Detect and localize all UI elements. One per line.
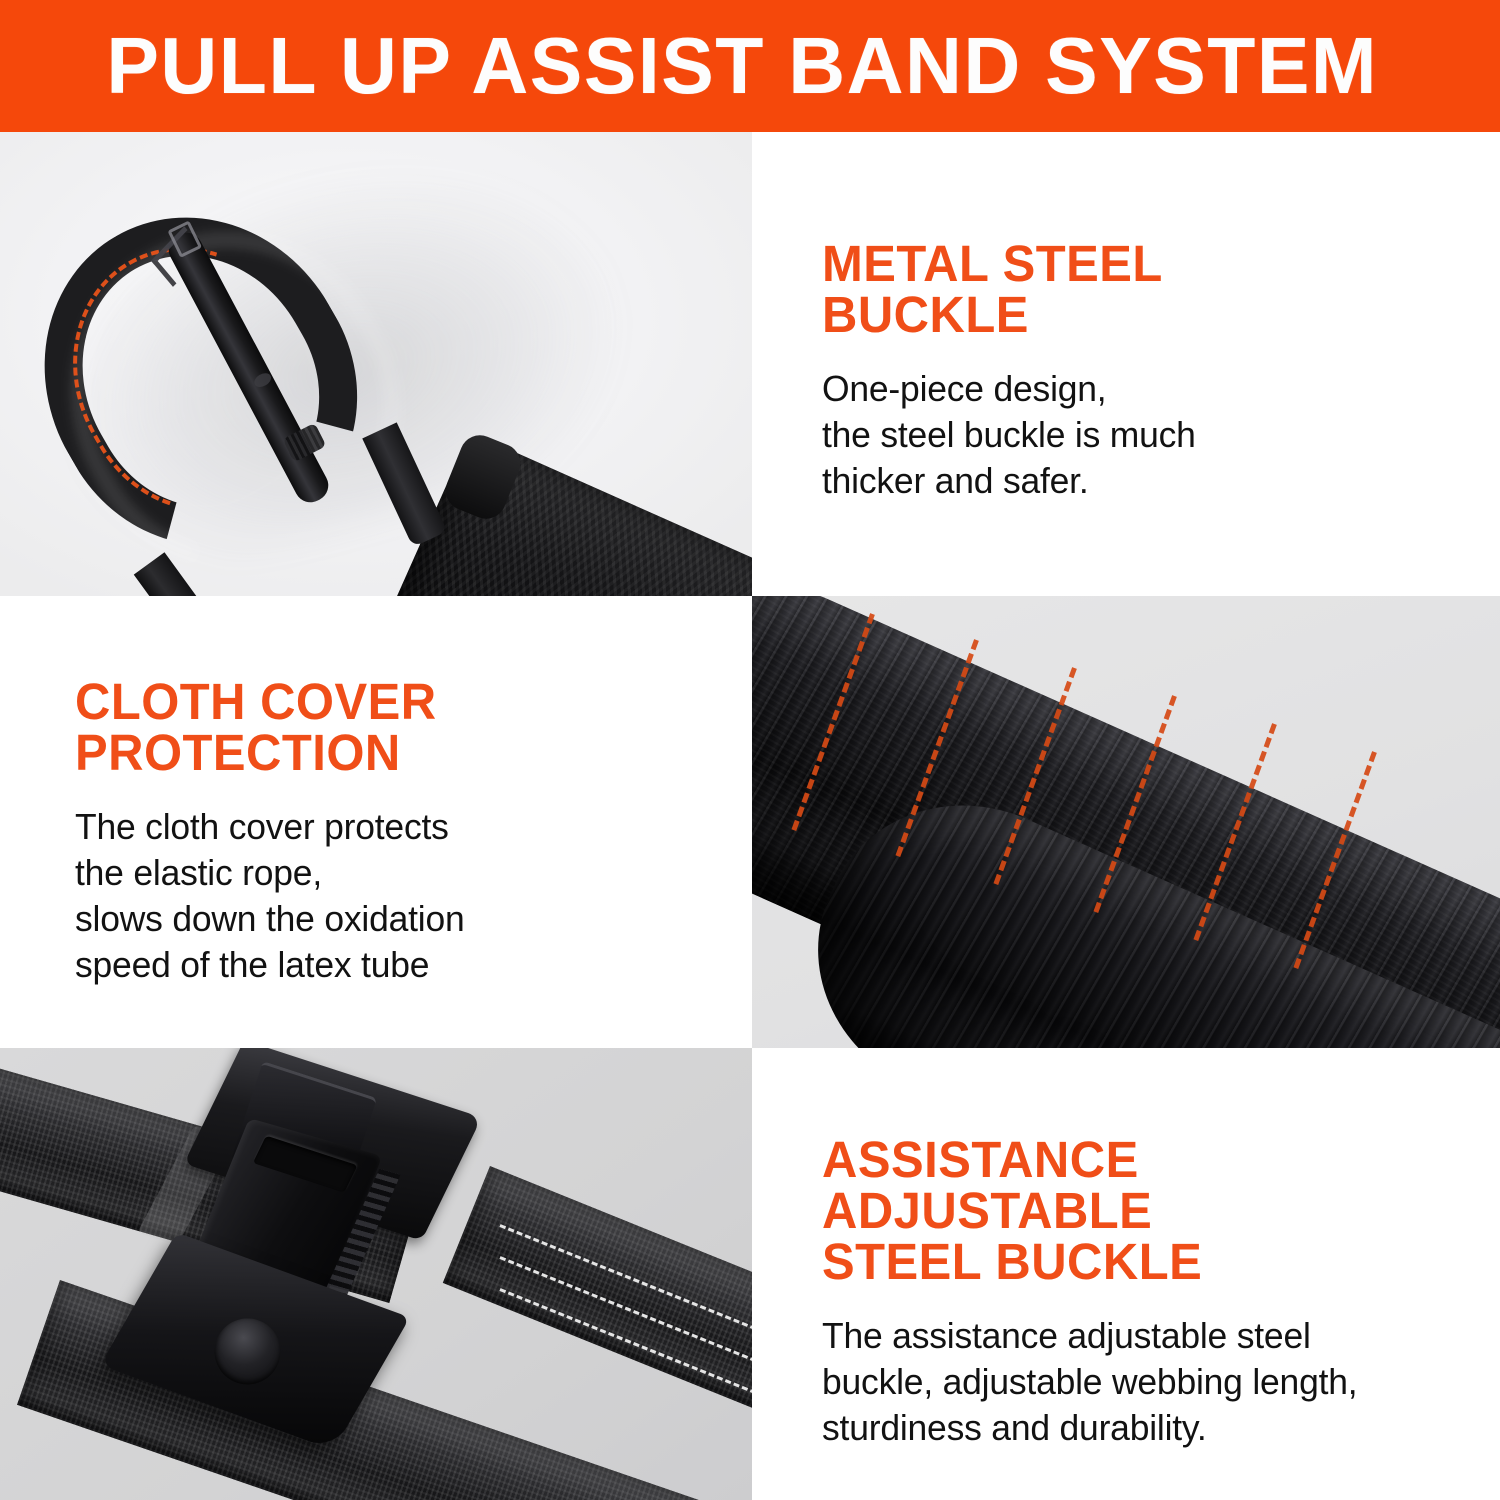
- assistance-adjustable-text-panel: ASSISTANCE ADJUSTABLE STEEL BUCKLE The a…: [752, 1048, 1500, 1500]
- infographic-page: PULL UP ASSIST BAND SYSTEM METAL STEEL B…: [0, 0, 1500, 1500]
- cloth-cover-text-panel: CLOTH COVER PROTECTION The cloth cover p…: [0, 596, 752, 1048]
- cloth-cover-heading: CLOTH COVER PROTECTION: [75, 676, 455, 778]
- cloth-cover-textblock: CLOTH COVER PROTECTION The cloth cover p…: [75, 676, 470, 988]
- metal-steel-buckle-body: One-piece design, the steel buckle is mu…: [822, 366, 1196, 504]
- metal-steel-buckle-textblock: METAL STEEL BUCKLE One-piece design, the…: [822, 238, 1201, 504]
- assistance-adjustable-textblock: ASSISTANCE ADJUSTABLE STEEL BUCKLE The a…: [822, 1134, 1366, 1451]
- page-title: PULL UP ASSIST BAND SYSTEM: [0, 26, 1378, 106]
- cam-buckle-photo: [0, 1048, 752, 1500]
- assistance-adjustable-heading: ASSISTANCE ADJUSTABLE STEEL BUCKLE: [822, 1134, 1344, 1287]
- metal-steel-buckle-text-panel: METAL STEEL BUCKLE One-piece design, the…: [752, 132, 1500, 596]
- carabiner-photo: [0, 132, 752, 596]
- header-banner: PULL UP ASSIST BAND SYSTEM: [0, 0, 1500, 132]
- assistance-adjustable-body: The assistance adjustable steel buckle, …: [822, 1313, 1357, 1451]
- cloth-cover-body: The cloth cover protects the elastic rop…: [75, 804, 465, 988]
- metal-steel-buckle-heading: METAL STEEL BUCKLE: [822, 238, 1186, 340]
- cloth-cover-photo: [752, 596, 1500, 1048]
